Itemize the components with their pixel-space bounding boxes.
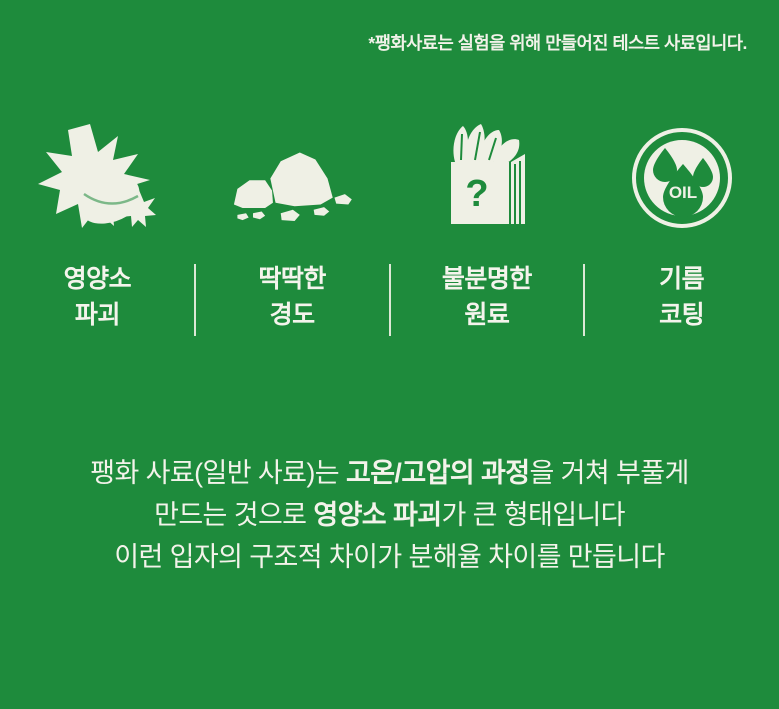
feature-item-hardness: 딱딱한 경도 [195, 118, 390, 333]
body-line-2-bold: 영양소 파괴 [313, 500, 441, 530]
body-line-2: 만드는 것으로 영양소 파괴가 큰 형태입니다 [0, 494, 779, 536]
body-line-1: 팽화 사료(일반 사료)는 고온/고압의 과정을 거쳐 부풀게 [0, 452, 779, 494]
body-line-3: 이런 입자의 구조적 차이가 분해율 차이를 만듭니다 [0, 536, 779, 578]
body-line-1-pre: 팽화 사료(일반 사료)는 [90, 458, 346, 488]
feature-label-oil-coating: 기름 코팅 [659, 262, 704, 333]
question-mark-badge: ? [465, 173, 488, 215]
hard-rocks-icon [227, 118, 357, 230]
unknown-ingredient-bag-icon: ? [422, 118, 552, 230]
oil-text-badge: OIL [668, 183, 696, 202]
oil-coating-icon: OIL [617, 118, 747, 230]
body-line-1-post: 을 거쳐 부풀게 [529, 458, 688, 488]
feature-label-hardness: 딱딱한 경도 [258, 262, 326, 333]
feature-item-unknown-ingredients: ? 불분명한 원료 [390, 118, 585, 333]
body-line-3-pre: 이런 입자의 구조적 차이가 분해율 차이를 만듭니다 [114, 542, 664, 572]
body-paragraph: 팽화 사료(일반 사료)는 고온/고압의 과정을 거쳐 부풀게 만드는 것으로 … [0, 452, 779, 578]
feature-label-nutrient-loss: 영양소 파괴 [64, 262, 132, 333]
feature-item-nutrient-loss: 영양소 파괴 [0, 118, 195, 333]
body-line-2-post: 가 큰 형태입니다 [441, 500, 624, 530]
body-line-2-pre: 만드는 것으로 [154, 500, 313, 530]
feature-strip: 영양소 파괴 [0, 118, 779, 333]
feature-label-unknown-ingredients: 불분명한 원료 [442, 262, 532, 333]
body-line-1-bold: 고온/고압의 과정 [346, 458, 529, 488]
disclaimer-note: *팽화사료는 실험을 위해 만들어진 테스트 사료입니다. [368, 30, 747, 55]
feature-item-oil-coating: OIL 기름 코팅 [584, 118, 779, 333]
promo-panel: *팽화사료는 실험을 위해 만들어진 테스트 사료입니다. [0, 0, 779, 709]
nutrient-burst-icon [32, 118, 162, 230]
